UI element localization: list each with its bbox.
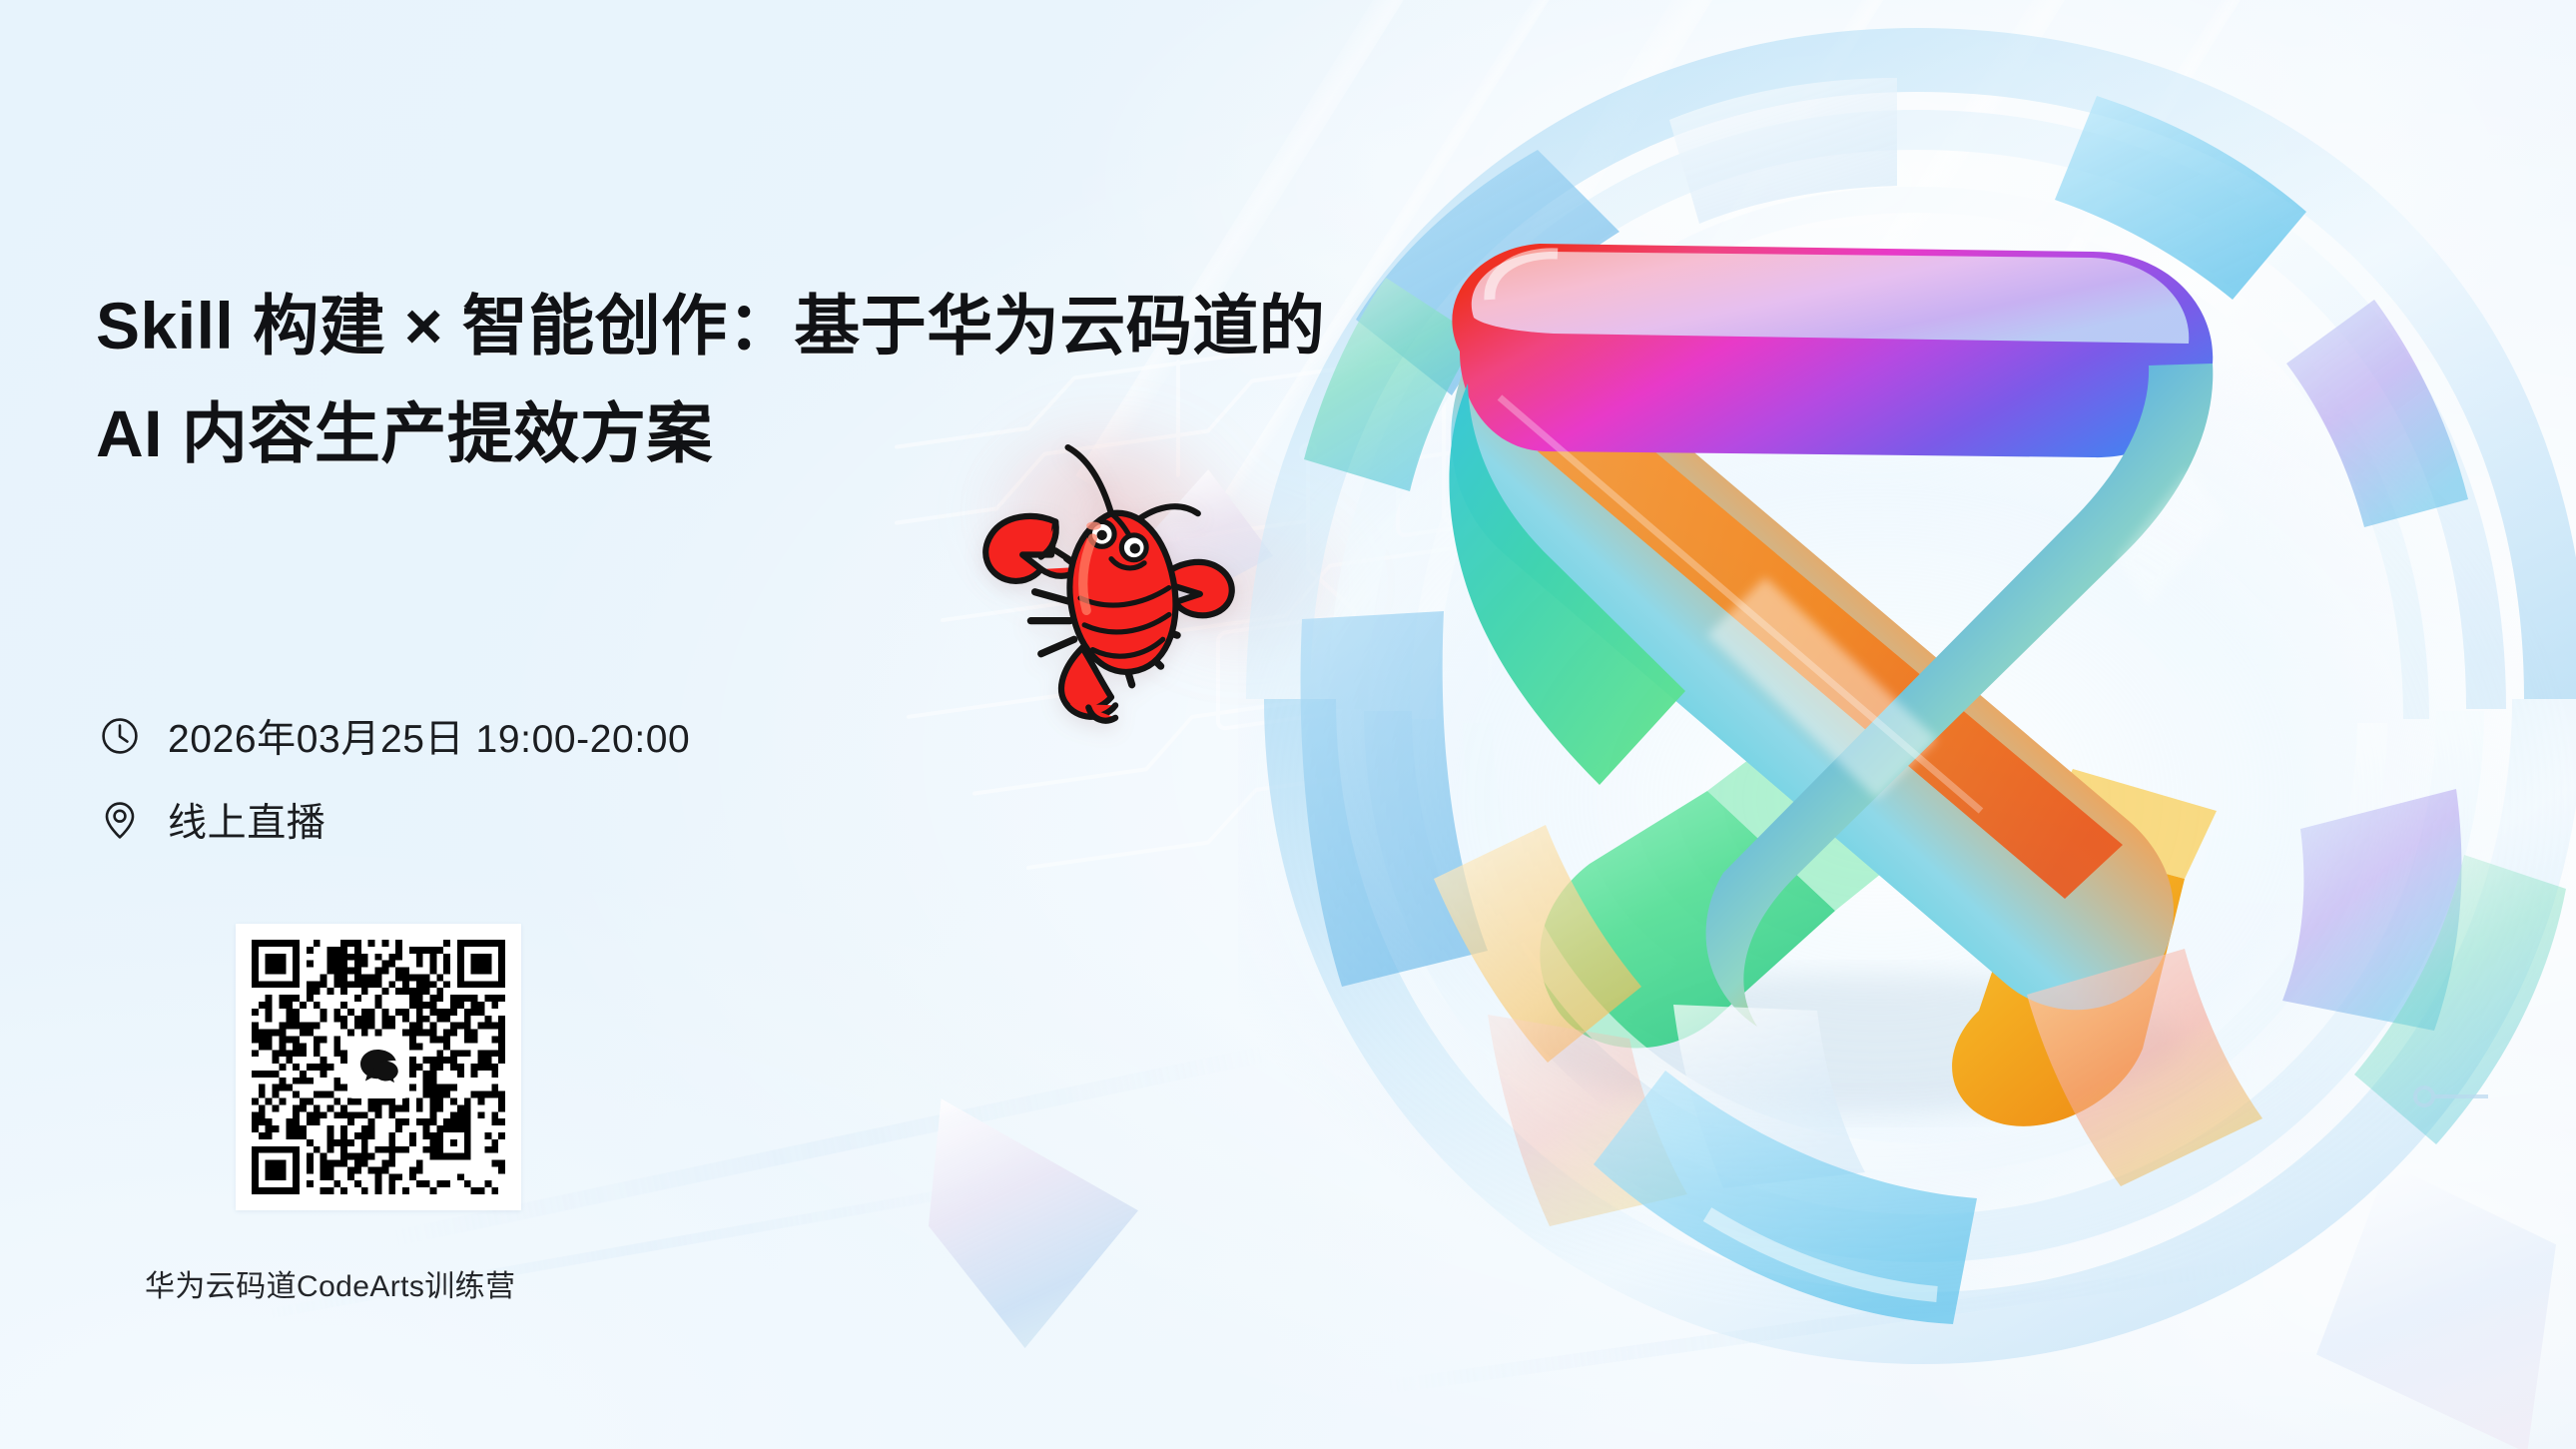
headline-line-1: Skill 构建 × 智能创作：基于华为云码道的	[96, 278, 1204, 375]
map-pin-icon	[98, 798, 142, 842]
lobster-mascot	[957, 414, 1266, 724]
banner-content: Skill 构建 × 智能创作：基于华为云码道的 AI 内容生产提效方案 202…	[0, 0, 1238, 1449]
codearts-3d-ribbon-logo	[1238, 0, 2576, 1449]
qr-code-card[interactable]	[236, 924, 521, 1210]
event-datetime-row: 2026年03月25日 19:00-20:00	[98, 699, 690, 773]
event-meta: 2026年03月25日 19:00-20:00 线上直播	[98, 699, 690, 857]
event-location-row: 线上直播	[98, 783, 690, 857]
hero-artwork	[1238, 0, 2576, 1449]
wechat-bubble-icon	[347, 1037, 409, 1098]
event-datetime-text: 2026年03月25日 19:00-20:00	[168, 708, 690, 764]
event-banner: Skill 构建 × 智能创作：基于华为云码道的 AI 内容生产提效方案 202…	[0, 0, 2576, 1449]
clock-icon	[98, 714, 142, 758]
event-location-text: 线上直播	[168, 792, 325, 848]
qr-code-block[interactable]	[236, 924, 521, 1210]
qr-caption: 华为云码道CodeArts训练营	[145, 1261, 614, 1305]
